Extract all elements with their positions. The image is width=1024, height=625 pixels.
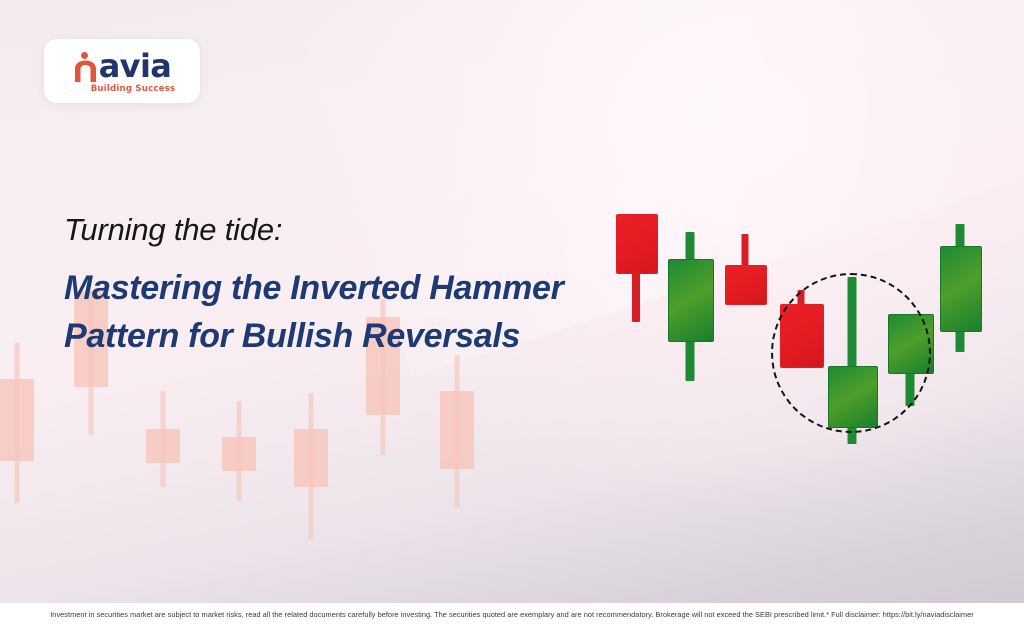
candlestick-body: [616, 214, 658, 274]
eyebrow-text: Turning the tide:: [64, 212, 644, 248]
logo-n-glyph: [73, 60, 98, 82]
inverted-hammer-highlight-circle: [771, 273, 931, 433]
headline-block: Turning the tide: Mastering the Inverted…: [64, 212, 644, 361]
logo-text-avia: avia: [99, 50, 172, 82]
candlestick-body: [940, 246, 982, 332]
background-candlestick-body: [222, 437, 256, 471]
background-candlestick-body: [146, 429, 180, 463]
background-candlestick: [0, 287, 34, 607]
background-candlestick-body: [440, 391, 474, 469]
navia-logo[interactable]: avia Building Success: [44, 39, 200, 103]
candlestick-body: [725, 265, 767, 305]
background-candlestick-wick: [15, 343, 20, 503]
page-title: Mastering the Inverted Hammer Pattern fo…: [64, 264, 644, 361]
candlestick-7-up: [940, 196, 980, 446]
background-candlestick-wick: [237, 401, 242, 501]
candlestick-2-up: [668, 196, 712, 446]
logo-wordmark: avia: [73, 50, 172, 82]
logo-person-n-icon: [73, 52, 98, 82]
candlestick-body: [668, 259, 714, 342]
logo-tagline: Building Success: [91, 84, 176, 94]
background-candlestick-body: [294, 429, 328, 487]
background-candlestick-wick: [309, 393, 314, 539]
candlestick-3-down: [725, 196, 765, 446]
candlestick-1-down: [616, 196, 656, 446]
background-candlestick-wick: [161, 391, 166, 487]
background-candlestick-body: [0, 379, 34, 461]
disclaimer-bar: Investment in securities market are subj…: [0, 603, 1024, 625]
disclaimer-text: Investment in securities market are subj…: [50, 610, 974, 619]
background-candlestick-wick: [455, 355, 460, 507]
poster-canvas: avia Building Success Turning the tide: …: [0, 0, 1024, 625]
logo-person-head-dot: [81, 52, 88, 59]
